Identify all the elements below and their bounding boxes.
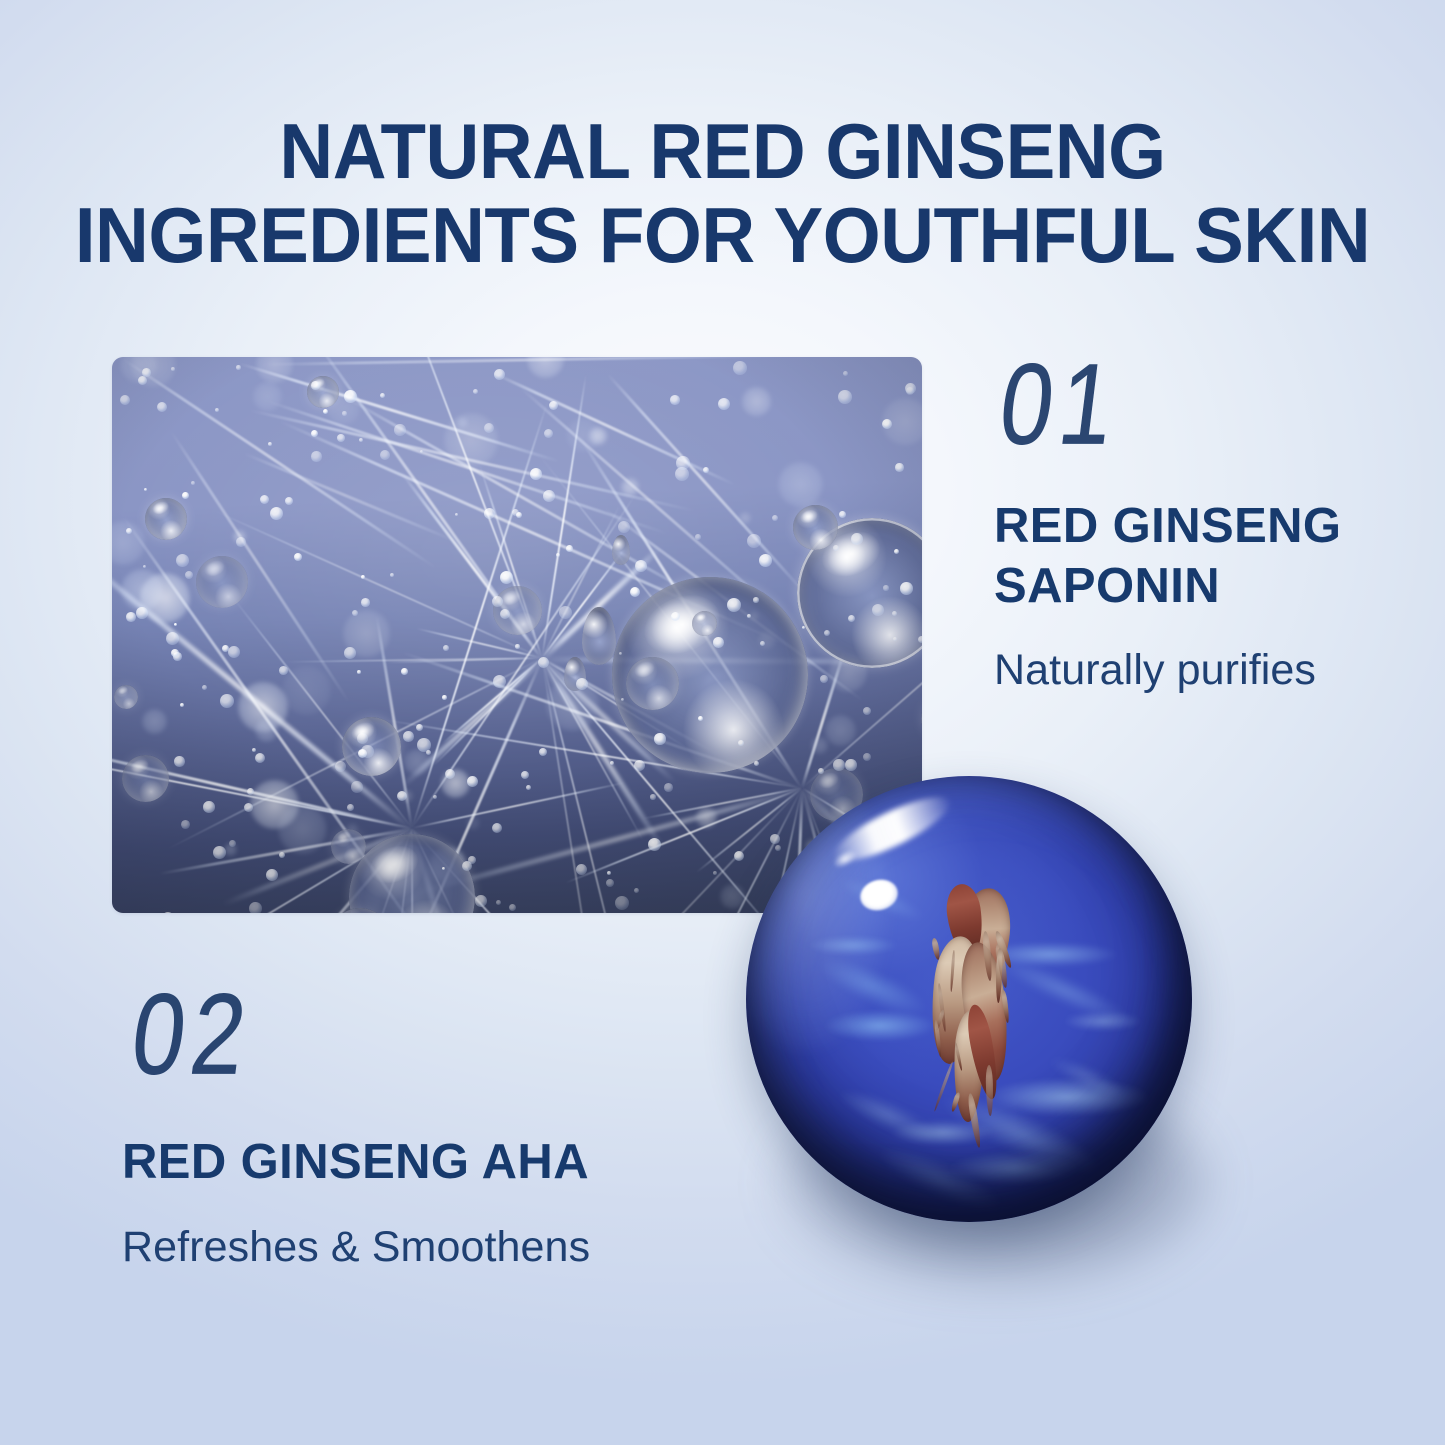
ginseng-sphere (746, 776, 1192, 1292)
sphere-rim-light (746, 776, 1192, 1222)
benefit-subtitle-02: Refreshes & Smoothens (122, 1222, 590, 1274)
headline-line-2: INGREDIENTS FOR YOUTHFUL SKIN (33, 194, 1413, 277)
benefit-number-02: 02 (126, 977, 259, 1092)
product-ingredient-infographic: NATURAL RED GINSENG INGREDIENTS FOR YOUT… (0, 0, 1445, 1445)
sphere-body (746, 776, 1192, 1222)
benefit-title-01: RED GINSENG SAPONIN (994, 497, 1341, 617)
benefit-subtitle-01: Naturally purifies (994, 645, 1316, 697)
benefit-title-02: RED GINSENG AHA (122, 1133, 589, 1193)
page-title: NATURAL RED GINSENG INGREDIENTS FOR YOUT… (33, 110, 1413, 277)
benefit-number-01: 01 (994, 347, 1127, 462)
headline-line-1: NATURAL RED GINSENG (33, 110, 1413, 193)
